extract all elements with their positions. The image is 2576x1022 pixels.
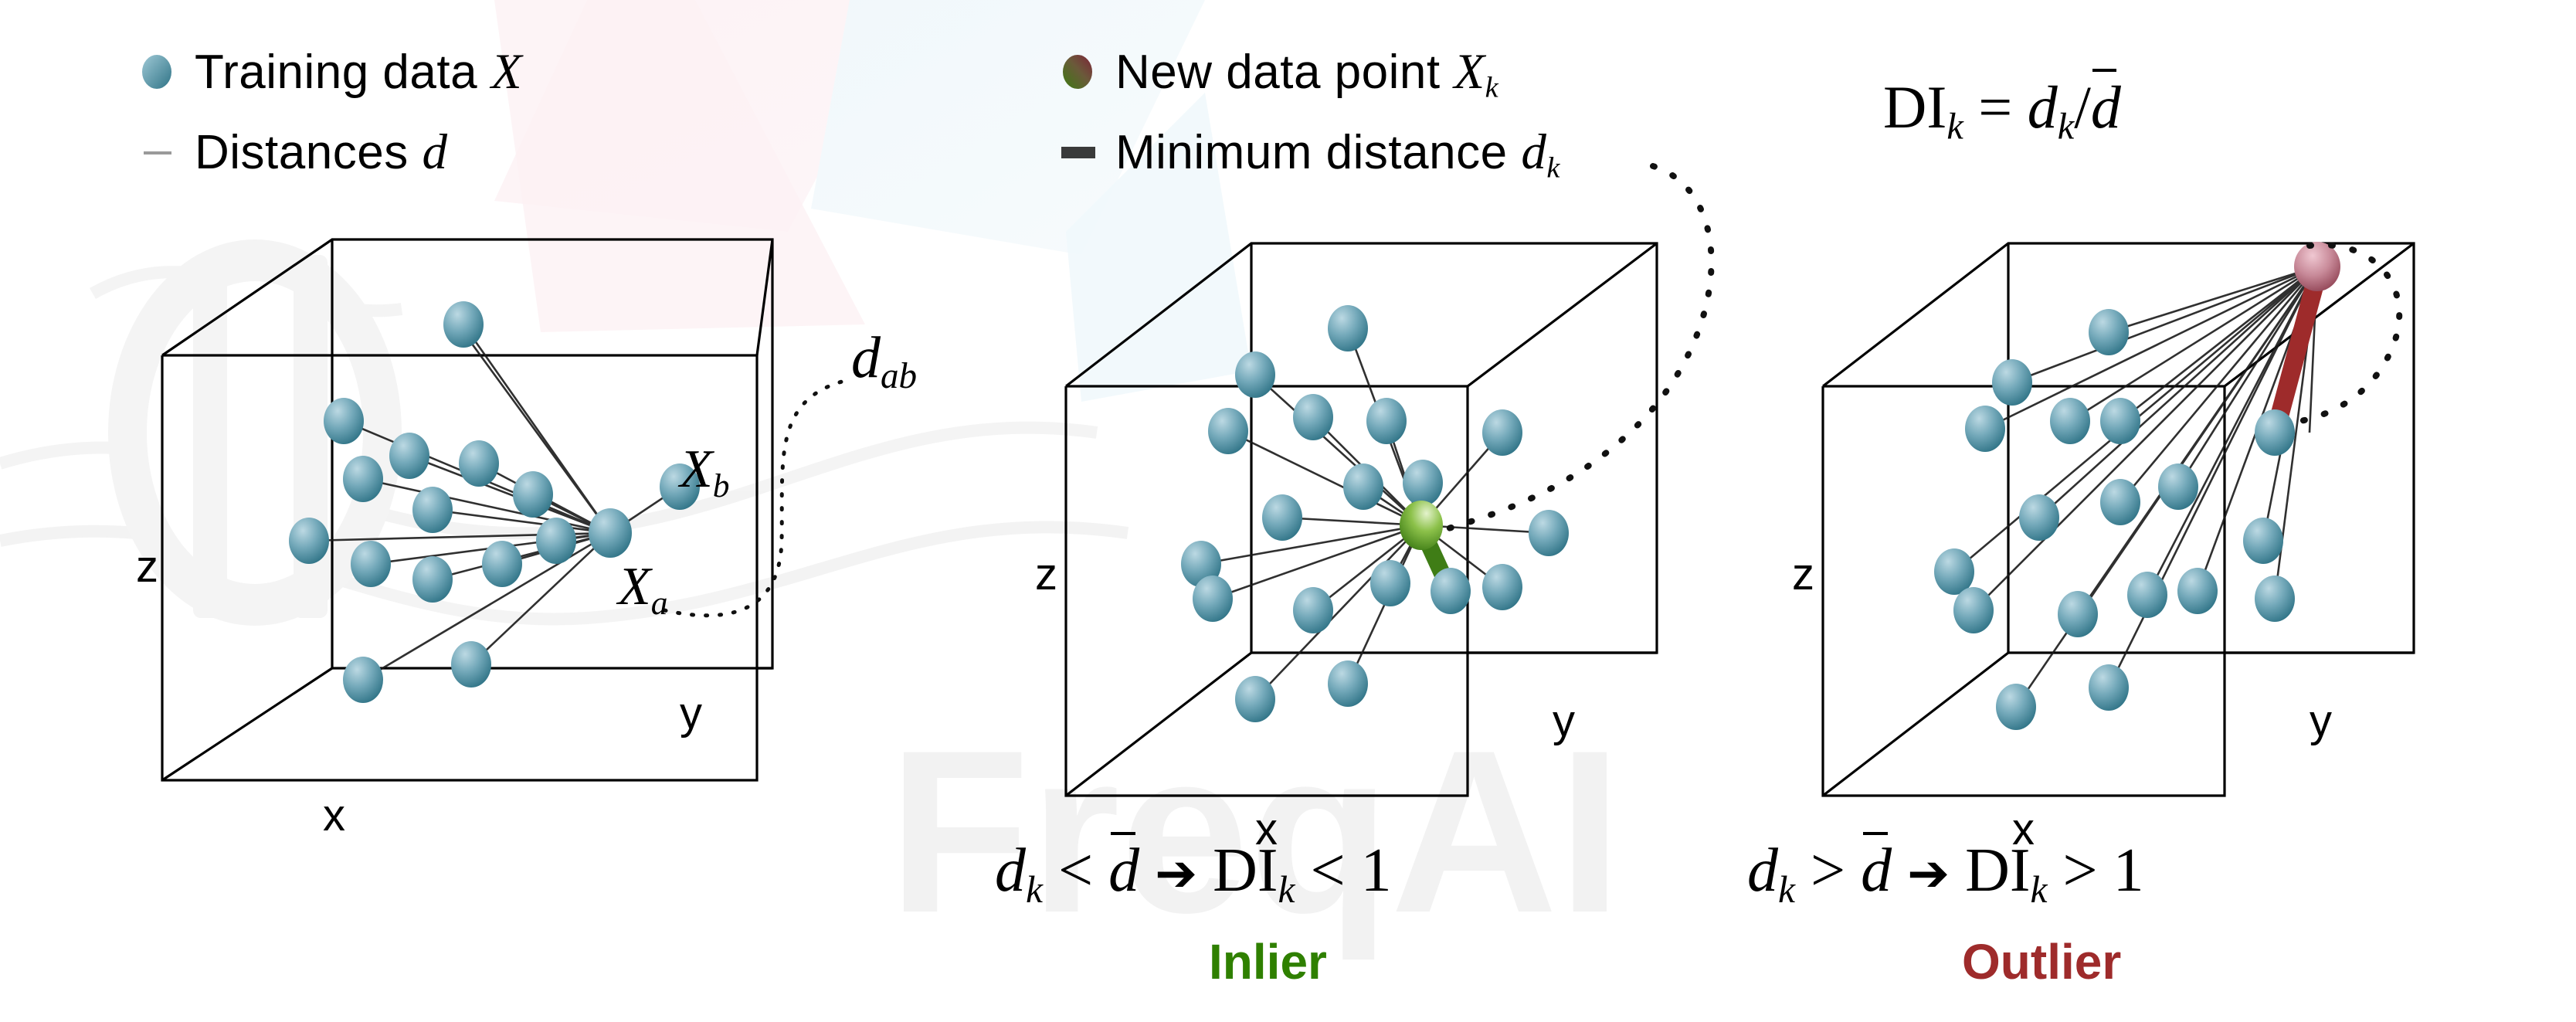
legend-marker-minimum-distance: [1061, 147, 1095, 158]
caption-outlier-a: d: [1747, 837, 1778, 905]
label-Xb: Xb: [680, 439, 729, 505]
axis-label-z-middle: z: [1035, 548, 1057, 600]
annotation-dab-sub: ab: [881, 356, 917, 396]
annotation-dab-symbol: d: [851, 325, 881, 390]
legend-text-distances: Distances: [195, 126, 409, 179]
legend-label-minimum-distance: Minimum distance dk: [1115, 124, 1560, 185]
label-Xb-sub: b: [713, 467, 730, 504]
axis-label-z-left: z: [136, 541, 158, 592]
legend-marker-new-data-point: [1063, 55, 1092, 89]
legend-symbol-minimum-distance: d: [1521, 124, 1546, 180]
di-formula-den: d: [2091, 73, 2121, 142]
annotation-dab: dab: [851, 324, 917, 397]
legend-symbol-sub-minimum-distance: k: [1546, 152, 1560, 185]
caption-inlier-a-sub: k: [1026, 868, 1043, 911]
legend-symbol-distances: d: [422, 124, 447, 180]
new-point-outlier: [2294, 242, 2340, 291]
label-Xa: Xa: [618, 556, 667, 623]
caption-outlier-c: DI: [1965, 837, 2030, 905]
distance-lines-left: [309, 324, 680, 680]
caption-inlier-rel2: <: [1311, 837, 1346, 905]
caption-inlier-b: d: [1108, 836, 1139, 906]
caption-outlier-b: d: [1861, 836, 1892, 906]
caption-inlier-c-sub: k: [1278, 868, 1295, 911]
label-Xb-symbol: X: [680, 440, 713, 499]
leader-dk-middle: [1446, 166, 1712, 529]
caption-outlier-rel2: >: [2063, 837, 2098, 905]
axis-label-y-middle: y: [1553, 695, 1575, 747]
point-Xa: [589, 508, 632, 558]
caption-inlier-c: DI: [1213, 837, 1278, 905]
di-formula-slash: /: [2074, 73, 2091, 141]
caption-outlier-arrow: ➔: [1907, 844, 1950, 903]
axis-label-y-right: y: [2310, 695, 2332, 747]
caption-formula-outlier: dk > d ➔ DIk > 1: [1747, 836, 2144, 912]
axis-label-x-left: x: [323, 789, 345, 841]
label-Xa-sub: a: [651, 585, 668, 622]
legend-label-new-data-point: New data point Xk: [1115, 43, 1498, 105]
caption-outlier-rel: >: [1811, 837, 1845, 905]
legend-text-training-data: Training data: [195, 46, 477, 99]
training-points-middle: [1181, 305, 1569, 722]
legend-symbol-sub-new-data-point: k: [1485, 72, 1499, 104]
axis-label-y-left: y: [680, 688, 702, 739]
new-point-inlier: [1400, 501, 1443, 550]
axis-label-z-right: z: [1792, 548, 1814, 600]
caption-word-outlier: Outlier: [1962, 933, 2121, 990]
legend-symbol-new-data-point: X: [1454, 44, 1485, 100]
caption-outlier-c-sub: k: [2031, 868, 2048, 911]
caption-inlier-val: 1: [1361, 837, 1392, 905]
legend-symbol-training-data: X: [491, 44, 522, 100]
caption-outlier-val: 1: [2113, 837, 2144, 905]
legend-text-minimum-distance: Minimum distance: [1115, 126, 1508, 179]
caption-word-inlier: Inlier: [1209, 933, 1327, 990]
legend-label-training-data: Training data X: [195, 43, 522, 101]
caption-inlier-a: d: [995, 837, 1026, 905]
di-formula-num: d: [2028, 73, 2058, 141]
caption-inlier-rel: <: [1058, 837, 1093, 905]
di-formula: DIk = dk/d: [1883, 73, 2121, 148]
legend-label-distances: Distances d: [195, 124, 448, 182]
legend-marker-distances: [144, 151, 171, 154]
figure-canvas: FreqAI: [0, 0, 2576, 1022]
caption-formula-inlier: dk < d ➔ DIk < 1: [995, 836, 1392, 912]
di-formula-lhs: DI: [1883, 73, 1946, 141]
label-Xa-symbol: X: [618, 557, 651, 616]
caption-outlier-a-sub: k: [1778, 868, 1795, 911]
legend-text-new-data-point: New data point: [1115, 46, 1441, 99]
di-formula-num-sub: k: [2058, 107, 2074, 148]
legend-marker-training-data: [142, 55, 171, 89]
di-formula-equals: =: [1978, 73, 2012, 141]
caption-inlier-arrow: ➔: [1155, 844, 1197, 903]
di-formula-lhs-sub: k: [1946, 107, 1963, 148]
